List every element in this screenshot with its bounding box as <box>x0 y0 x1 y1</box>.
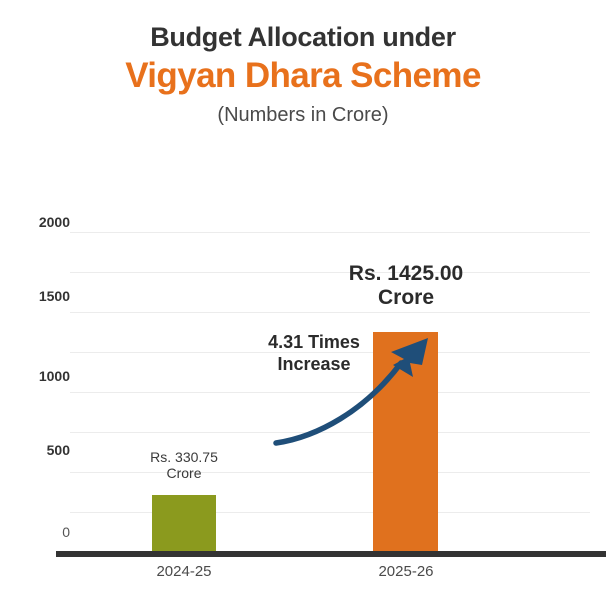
y-axis-tick-0: 0 <box>12 524 70 540</box>
x-axis-tick-2025-26: 2025-26 <box>345 563 467 580</box>
y-axis-tick-1500: 1500 <box>12 288 70 304</box>
gridline-1500 <box>70 312 590 313</box>
y-axis-tick-1000: 1000 <box>12 368 70 384</box>
curved-up-right-arrow-icon <box>265 325 440 450</box>
bar-value-label-2025-26: Rs. 1425.00 Crore <box>330 262 482 309</box>
y-axis-tick-500: 500 <box>12 442 70 458</box>
bar-value-label-2024-25: Rs. 330.75 Crore <box>124 450 244 481</box>
gridline-2000 <box>70 232 590 233</box>
x-axis-tick-2024-25: 2024-25 <box>124 563 244 580</box>
bar-chart: 2000 1500 1000 500 0 Rs. 330.75 Crore Rs… <box>0 0 606 595</box>
bar-2024-25[interactable] <box>152 495 216 551</box>
x-axis-baseline <box>56 551 606 557</box>
y-axis-tick-2000: 2000 <box>12 214 70 230</box>
gridline-250 <box>70 512 590 513</box>
